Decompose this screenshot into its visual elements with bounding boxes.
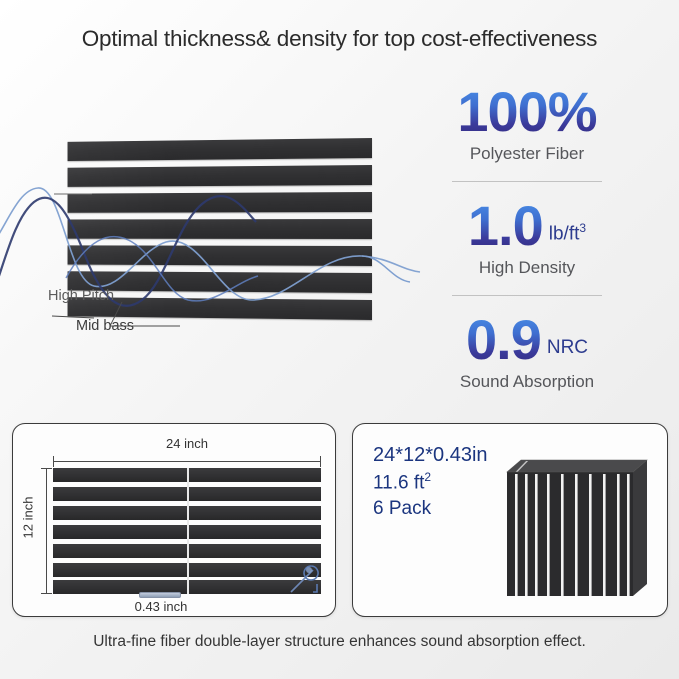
spec-pack-count: 6 Pack (373, 496, 488, 521)
stat-polyester-fiber: 100% Polyester Fiber (401, 84, 653, 164)
footer-caption: Ultra-fine fiber double-layer structure … (0, 633, 679, 651)
stat-value: 100% (457, 84, 596, 140)
thickness-marker (139, 592, 181, 598)
stat-sound-absorption: 0.9 NRC Sound Absorption (401, 312, 653, 392)
stat-value-row: 100% (401, 84, 653, 140)
measure-line (46, 468, 47, 594)
page-title: Optimal thickness& density for top cost-… (0, 26, 679, 52)
measure-cap (53, 456, 54, 467)
high-pitch-leader-line (44, 186, 174, 216)
mid-bass-leader-line (60, 300, 190, 340)
width-dimension-label: 24 inch (53, 436, 321, 451)
spec-text-block: 24*12*0.43in 11.6 ft2 6 Pack (373, 442, 488, 521)
width-measure-bar (53, 456, 321, 466)
stat-value-row: 0.9 NRC (401, 312, 653, 368)
stat-caption: High Density (401, 258, 653, 278)
stat-high-density: 1.0 lb/ft3 High Density (401, 198, 653, 278)
stat-unit: NRC (547, 337, 588, 368)
measure-cap (41, 593, 52, 594)
stat-divider (452, 295, 602, 296)
spec-card: 24*12*0.43in 11.6 ft2 6 Pack (352, 423, 668, 617)
height-measure-bar (41, 468, 51, 594)
dimensions-diagram: 24 inch 12 inch 0.43 inch (13, 424, 335, 616)
spec-dimensions: 24*12*0.43in (373, 442, 488, 469)
corner-detail-callout (287, 562, 321, 596)
panel-top-view (53, 468, 321, 594)
panel-center-seam (187, 468, 189, 594)
height-dimension-label: 12 inch (20, 497, 35, 539)
stat-caption: Polyester Fiber (401, 144, 653, 164)
stat-value: 0.9 (466, 312, 541, 368)
stat-caption: Sound Absorption (401, 372, 653, 392)
stat-value-row: 1.0 lb/ft3 (401, 198, 653, 254)
thickness-dimension-label: 0.43 inch (109, 599, 213, 614)
dimensions-card: 24 inch 12 inch 0.43 inch (12, 423, 336, 617)
stat-value: 1.0 (468, 198, 543, 254)
measure-cap (41, 468, 52, 469)
measure-cap (320, 456, 321, 467)
panel-stack-illustration (505, 458, 651, 600)
stat-divider (452, 181, 602, 182)
stats-column: 100% Polyester Fiber 1.0 lb/ft3 High Den… (401, 84, 653, 392)
stat-unit: lb/ft3 (549, 221, 586, 254)
spec-coverage: 11.6 ft2 (373, 469, 488, 496)
measure-line (53, 461, 321, 462)
